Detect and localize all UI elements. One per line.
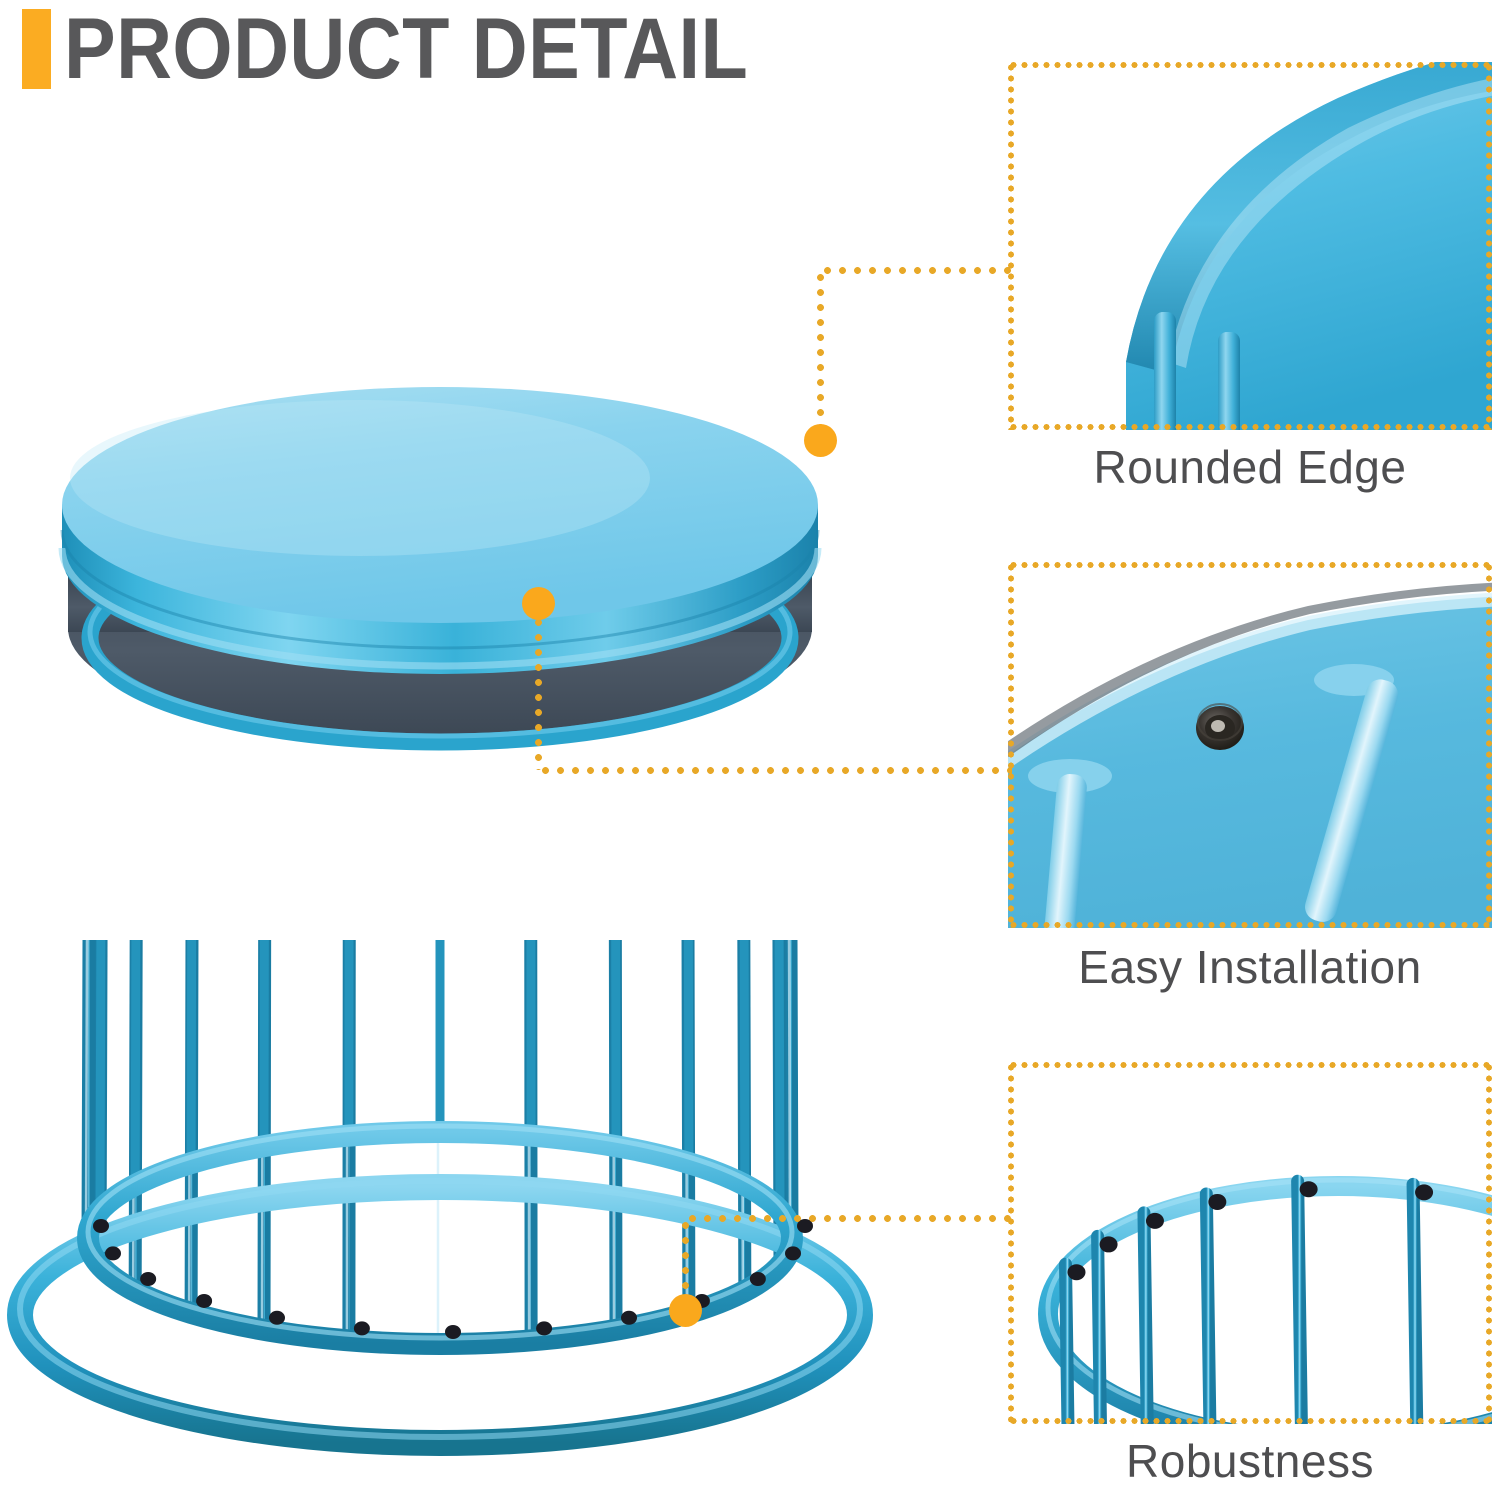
detail-screw-cap [1067,1264,1085,1280]
detail-screw-cap [1208,1194,1226,1210]
leader-line-horizontal [685,1215,1012,1222]
detail-screw-cap [1100,1236,1118,1252]
detail-screw-cap [1146,1213,1164,1229]
product-detail-infographic: PRODUCT DETAIL [0,0,1500,1500]
detail-spindle-bar [1144,1213,1148,1424]
leader-line-vertical [682,1218,689,1300]
callout-marker-dot[interactable] [804,424,837,457]
detail-spindle-bar [1098,1236,1102,1424]
detail-spindle-bar [1206,1194,1210,1424]
detail-screw-cap [1300,1181,1318,1197]
callout-robustness-label: Robustness [1008,1434,1492,1488]
detail-spindle-bar [1298,1181,1302,1424]
robustness-detail-svg [1008,1062,1492,1424]
detail-screw-cap [1415,1184,1433,1200]
leader-line-horizontal [820,267,1012,274]
callout-robustness-image [1008,1062,1492,1424]
callout-marker-dot[interactable] [522,587,555,620]
callout-robustness: Robustness [0,0,1500,1500]
detail-spindle-bar [1065,1264,1069,1424]
callout-marker-dot[interactable] [669,1294,702,1327]
leader-line-horizontal [538,767,1012,774]
leader-line-vertical [535,615,542,770]
leader-line-vertical [817,270,824,428]
detail-spindle-bar [1413,1184,1417,1424]
